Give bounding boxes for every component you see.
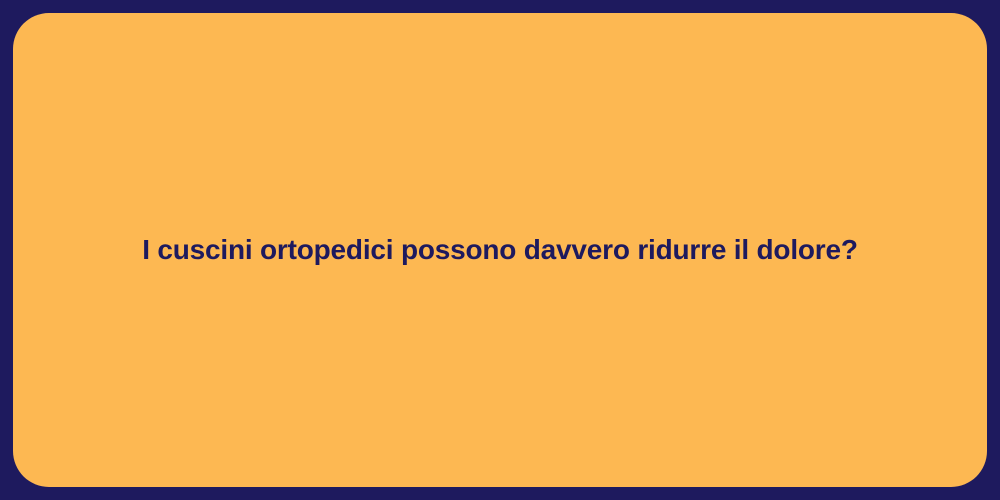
headline-text: I cuscini ortopedici possono davvero rid…	[102, 232, 898, 268]
banner-frame: I cuscini ortopedici possono davvero rid…	[0, 0, 1000, 500]
banner-panel: I cuscini ortopedici possono davvero rid…	[13, 13, 987, 487]
